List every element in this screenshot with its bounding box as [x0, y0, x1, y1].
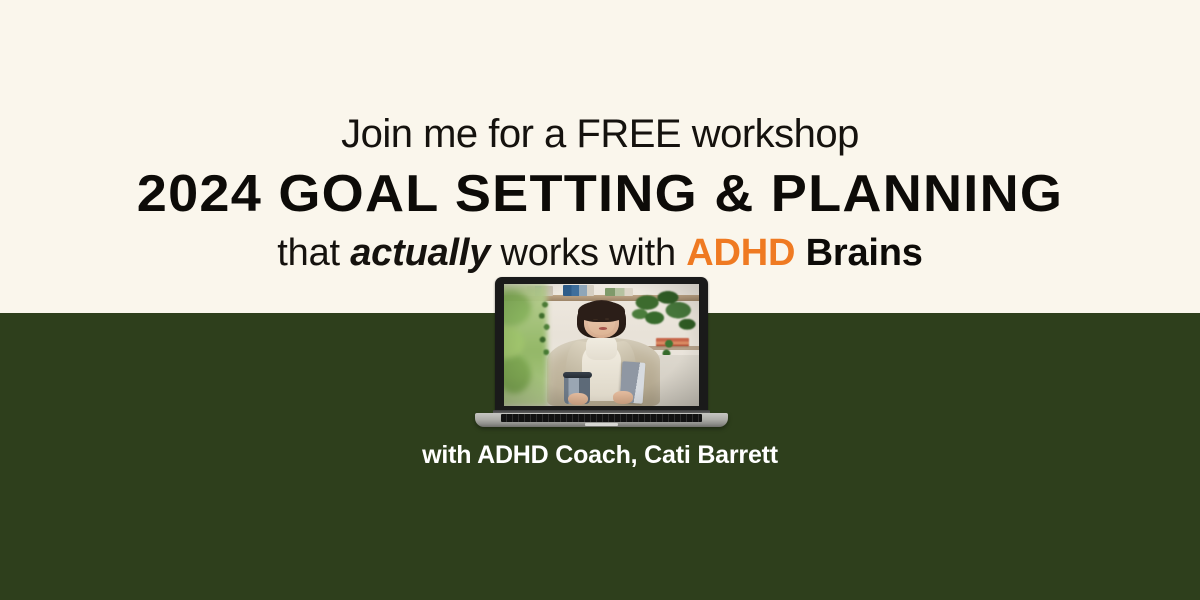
page-title: 2024 GOAL SETTING & PLANNING	[0, 168, 1200, 220]
subtitle-accent-adhd: ADHD	[686, 232, 795, 274]
presenter-credit: with ADHD Coach, Cati Barrett	[0, 441, 1200, 470]
laptop-lid	[495, 277, 708, 412]
laptop-trackpad	[585, 423, 618, 426]
promo-banner: Join me for a FREE workshop 2024 GOAL SE…	[0, 0, 1200, 600]
subtitle-text: that actually works with ADHD Brains	[0, 234, 1200, 272]
subtitle-part-3: Brains	[795, 232, 922, 274]
subtitle-part-2: works with	[490, 232, 686, 274]
subtitle-part-1: that	[277, 232, 350, 274]
headline-text-block: Join me for a FREE workshop 2024 GOAL SE…	[0, 0, 1200, 272]
kicker-text: Join me for a FREE workshop	[0, 114, 1200, 154]
laptop-screen-photo	[504, 284, 699, 406]
laptop-illustration	[475, 277, 728, 427]
subtitle-emphasis: actually	[350, 232, 490, 274]
photo-vignette	[504, 284, 699, 406]
laptop-keyboard	[501, 414, 702, 422]
